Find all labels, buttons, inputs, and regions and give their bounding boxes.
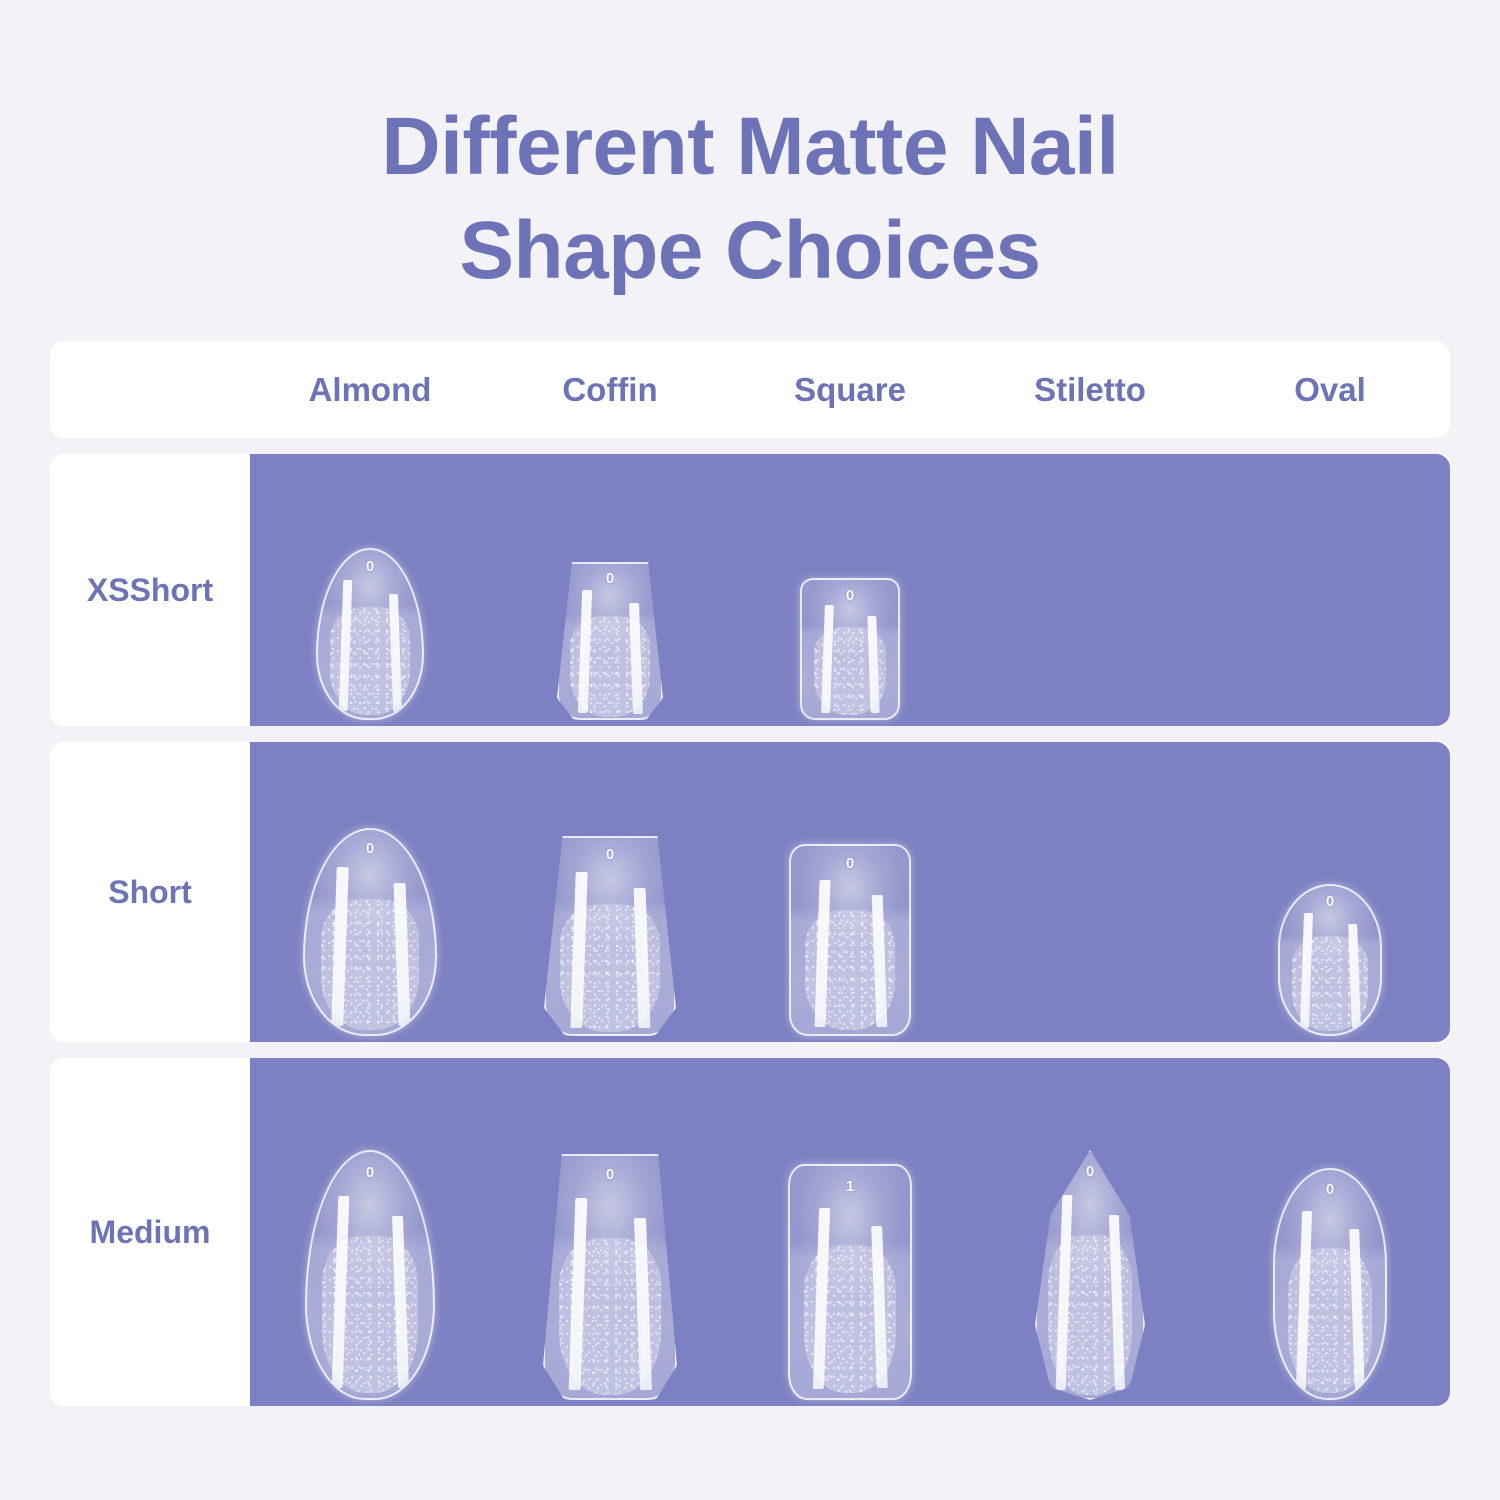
chart-body: XSShort000Short0000Medium00100 xyxy=(50,454,1450,1406)
nail-size-marking: 0 xyxy=(1275,1181,1385,1198)
page-title: Different Matte Nail Shape Choices xyxy=(0,95,1500,303)
column-header-list: AlmondCoffinSquareStilettoOval xyxy=(250,371,1450,409)
cell-short-almond[interactable]: 0 xyxy=(250,742,490,1042)
nail-size-marking: 0 xyxy=(1280,893,1380,910)
cell-xs-square[interactable]: 0 xyxy=(730,454,970,726)
column-header-coffin: Coffin xyxy=(490,371,730,409)
row-label-line-1: Medium xyxy=(90,1210,211,1254)
column-header-stiletto: Stiletto xyxy=(970,371,1210,409)
cell-medium-almond[interactable]: 0 xyxy=(250,1058,490,1406)
row-cells: 000 xyxy=(250,454,1450,726)
chart-row: Medium00100 xyxy=(50,1058,1450,1406)
cell-short-oval[interactable]: 0 xyxy=(1210,742,1450,1042)
nail-tip-stiletto[interactable]: 0 xyxy=(1035,1150,1145,1400)
row-label-medium: Medium xyxy=(50,1058,250,1406)
cell-xs-almond[interactable]: 0 xyxy=(250,454,490,726)
cell-medium-coffin[interactable]: 0 xyxy=(490,1058,730,1406)
nail-tip-coffin[interactable]: 0 xyxy=(544,836,676,1036)
cell-xs-stiletto[interactable] xyxy=(970,454,1210,726)
nail-size-marking: 0 xyxy=(307,1164,433,1181)
cell-xs-coffin[interactable]: 0 xyxy=(490,454,730,726)
row-label-xs: XSShort xyxy=(50,454,250,726)
nail-size-marking: 0 xyxy=(802,587,898,604)
nail-size-marking: 0 xyxy=(318,558,422,575)
nail-shape-size-chart: AlmondCoffinSquareStilettoOval XSShort00… xyxy=(50,341,1450,1406)
nail-tip-square[interactable]: 1 xyxy=(788,1164,912,1400)
row-label-short: Short xyxy=(50,742,250,1042)
nail-size-marking: 1 xyxy=(790,1178,910,1195)
chart-row: XSShort000 xyxy=(50,454,1450,726)
nail-size-marking: 0 xyxy=(791,855,909,872)
row-cells: 0000 xyxy=(250,742,1450,1042)
column-header-square: Square xyxy=(730,371,970,409)
nail-tip-almond[interactable]: 0 xyxy=(316,548,424,720)
row-label-line-1: XS xyxy=(87,568,130,612)
title-line-1: Different Matte Nail xyxy=(0,95,1500,199)
row-label-line-2: Short xyxy=(130,568,214,612)
nail-size-marking: 0 xyxy=(1035,1163,1145,1180)
column-header-almond: Almond xyxy=(250,371,490,409)
chart-row: Short0000 xyxy=(50,742,1450,1042)
cell-medium-square[interactable]: 1 xyxy=(730,1058,970,1406)
nail-tip-almond[interactable]: 0 xyxy=(305,1150,435,1400)
nail-size-marking: 0 xyxy=(543,1166,677,1183)
nail-tip-square[interactable]: 0 xyxy=(789,844,911,1036)
cell-short-stiletto[interactable] xyxy=(970,742,1210,1042)
nail-tip-oval[interactable]: 0 xyxy=(1278,884,1382,1036)
nail-tip-almond[interactable]: 0 xyxy=(303,828,437,1036)
nail-tip-square[interactable]: 0 xyxy=(800,578,900,720)
column-header-oval: Oval xyxy=(1210,371,1450,409)
row-cells: 00100 xyxy=(250,1058,1450,1406)
row-label-line-1: Short xyxy=(108,870,192,914)
cell-medium-oval[interactable]: 0 xyxy=(1210,1058,1450,1406)
nail-size-marking: 0 xyxy=(557,570,663,587)
nail-tip-coffin[interactable]: 0 xyxy=(557,562,663,720)
cell-medium-stiletto[interactable]: 0 xyxy=(970,1058,1210,1406)
nail-tip-oval[interactable]: 0 xyxy=(1273,1168,1387,1400)
cell-short-coffin[interactable]: 0 xyxy=(490,742,730,1042)
nail-tip-coffin[interactable]: 0 xyxy=(543,1154,677,1400)
nail-size-marking: 0 xyxy=(544,846,676,863)
chart-header-row: AlmondCoffinSquareStilettoOval xyxy=(50,341,1450,438)
title-line-2: Shape Choices xyxy=(0,199,1500,303)
nail-size-marking: 0 xyxy=(305,840,435,857)
cell-xs-oval[interactable] xyxy=(1210,454,1450,726)
cell-short-square[interactable]: 0 xyxy=(730,742,970,1042)
